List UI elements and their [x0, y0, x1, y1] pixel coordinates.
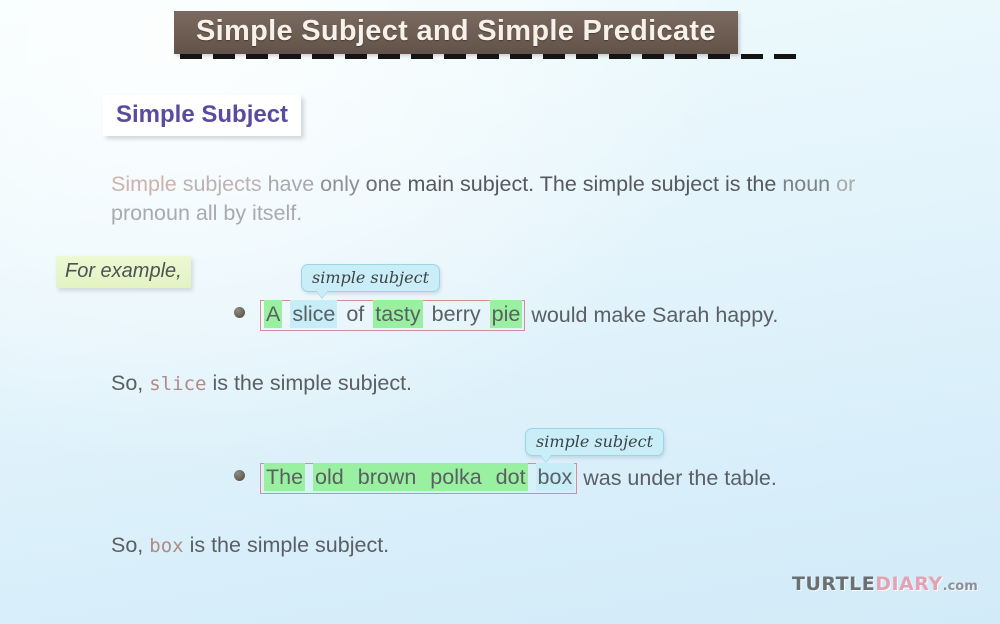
example-sentence-2: The old brown polka dot box was under th… — [260, 463, 777, 494]
turtlediary-logo[interactable]: TURTLEDIARY.com — [792, 573, 978, 595]
example-sentence-tail-2: was under the table. — [577, 468, 777, 490]
phrase-word-2-4: polka — [428, 463, 483, 491]
logo-text-diary: DIARY — [875, 573, 942, 595]
intro-word-noun: noun — [782, 172, 830, 196]
callout-label-2: simple subject — [536, 432, 653, 451]
intro-word-4: only — [320, 172, 359, 196]
example-sentence-1: A slice of tasty berry pie would make Sa… — [260, 300, 778, 331]
subject-phrase-box-1: A slice of tasty berry pie — [260, 300, 525, 331]
phrase-word-1-1: A — [264, 300, 282, 328]
subject-phrase-box-2: The old brown polka dot box — [260, 463, 577, 494]
phrase-word-2-1: The — [264, 463, 305, 491]
intro-word-1: Simple — [111, 172, 177, 196]
conclusion-keyword-2: box — [149, 535, 183, 557]
callout-label-1: simple subject — [312, 268, 429, 287]
phrase-word-1-6: pie — [490, 300, 523, 328]
logo-text-turtle: TURTLE — [792, 573, 875, 595]
callout-simple-subject-2: simple subject — [525, 428, 664, 456]
example-sentence-tail-1: would make Sarah happy. — [525, 305, 778, 327]
title-container: Simple Subject and Simple Predicate — [174, 11, 738, 54]
logo-text-dotcom: .com — [943, 579, 978, 594]
bullet-icon-1 — [234, 307, 245, 318]
intro-clause-main: main subject. The simple subject is the — [407, 172, 776, 196]
callout-simple-subject-1: simple subject — [301, 264, 440, 292]
title-dashed-underline — [180, 54, 800, 59]
phrase-word-2-5: dot — [494, 463, 528, 491]
phrase-word-1-5: berry — [431, 300, 482, 328]
phrase-word-2-3: brown — [356, 463, 419, 491]
section-heading: Simple Subject — [103, 95, 301, 136]
conclusion-2: So, box is the simple subject. — [111, 533, 389, 558]
phrase-word-2-6: box — [536, 463, 575, 491]
callout-pointer-icon-1 — [316, 290, 328, 298]
phrase-word-1-2: slice — [290, 300, 337, 328]
conclusion-suffix-1: is the simple subject. — [212, 371, 412, 395]
phrase-word-1-4: tasty — [373, 300, 422, 328]
intro-paragraph: Simple subjects have only one main subje… — [111, 170, 901, 228]
conclusion-prefix-2: So, — [111, 533, 143, 557]
intro-word-2: subjects — [183, 172, 262, 196]
callout-pointer-icon-2 — [540, 454, 552, 462]
intro-word-5: one — [366, 172, 402, 196]
conclusion-suffix-2: is the simple subject. — [190, 533, 390, 557]
intro-word-3: have — [268, 172, 315, 196]
conclusion-prefix-1: So, — [111, 371, 143, 395]
bullet-icon-2 — [234, 470, 245, 481]
conclusion-keyword-1: slice — [149, 373, 206, 395]
phrase-word-1-3: of — [345, 300, 365, 328]
phrase-word-2-2: old — [313, 463, 346, 491]
conclusion-1: So, slice is the simple subject. — [111, 371, 412, 396]
page-title: Simple Subject and Simple Predicate — [174, 11, 738, 54]
for-example-label: For example, — [56, 256, 191, 288]
slide-canvas: Simple Subject and Simple Predicate Simp… — [0, 0, 1000, 624]
